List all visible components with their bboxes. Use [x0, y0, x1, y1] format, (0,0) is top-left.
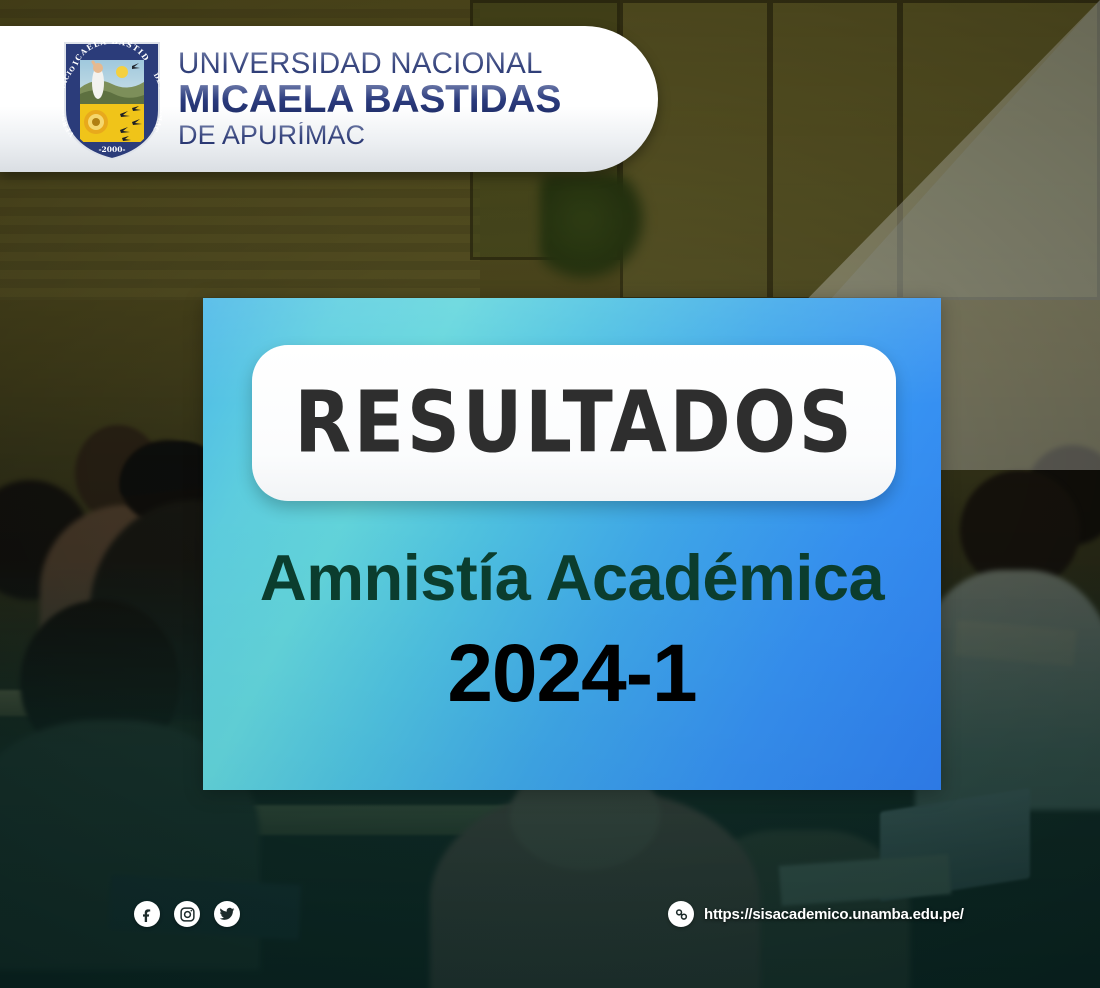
results-badge: RESULTADOS — [252, 345, 896, 501]
university-header-bar: MICAELA BASTIDAS UNIVERSIDAD NACIONAL DE… — [0, 26, 658, 172]
link-chain-icon — [668, 901, 694, 927]
announcement-card: RESULTADOS Amnistía Académica 2024-1 — [203, 298, 941, 790]
facebook-icon[interactable] — [134, 901, 160, 927]
svg-text:-2000-: -2000- — [98, 145, 125, 154]
website-link[interactable]: https://sisacademico.unamba.edu.pe/ — [668, 901, 964, 927]
instagram-icon[interactable] — [174, 901, 200, 927]
university-name: UNIVERSIDAD NACIONAL MICAELA BASTIDAS DE… — [178, 49, 561, 150]
results-badge-label: RESULTADOS — [294, 381, 854, 466]
social-links — [134, 901, 240, 927]
university-line1: UNIVERSIDAD NACIONAL — [178, 49, 561, 79]
university-crest-icon: MICAELA BASTIDAS UNIVERSIDAD NACIONAL DE… — [62, 38, 162, 160]
university-line2: MICAELA BASTIDAS — [178, 80, 561, 119]
university-line3: DE APURÍMAC — [178, 122, 561, 149]
twitter-icon[interactable] — [214, 901, 240, 927]
card-period: 2024-1 — [203, 633, 941, 715]
website-url-text: https://sisacademico.unamba.edu.pe/ — [704, 906, 964, 923]
card-subtitle: Amnistía Académica — [203, 545, 941, 610]
poster-canvas: MICAELA BASTIDAS UNIVERSIDAD NACIONAL DE… — [0, 0, 1100, 988]
